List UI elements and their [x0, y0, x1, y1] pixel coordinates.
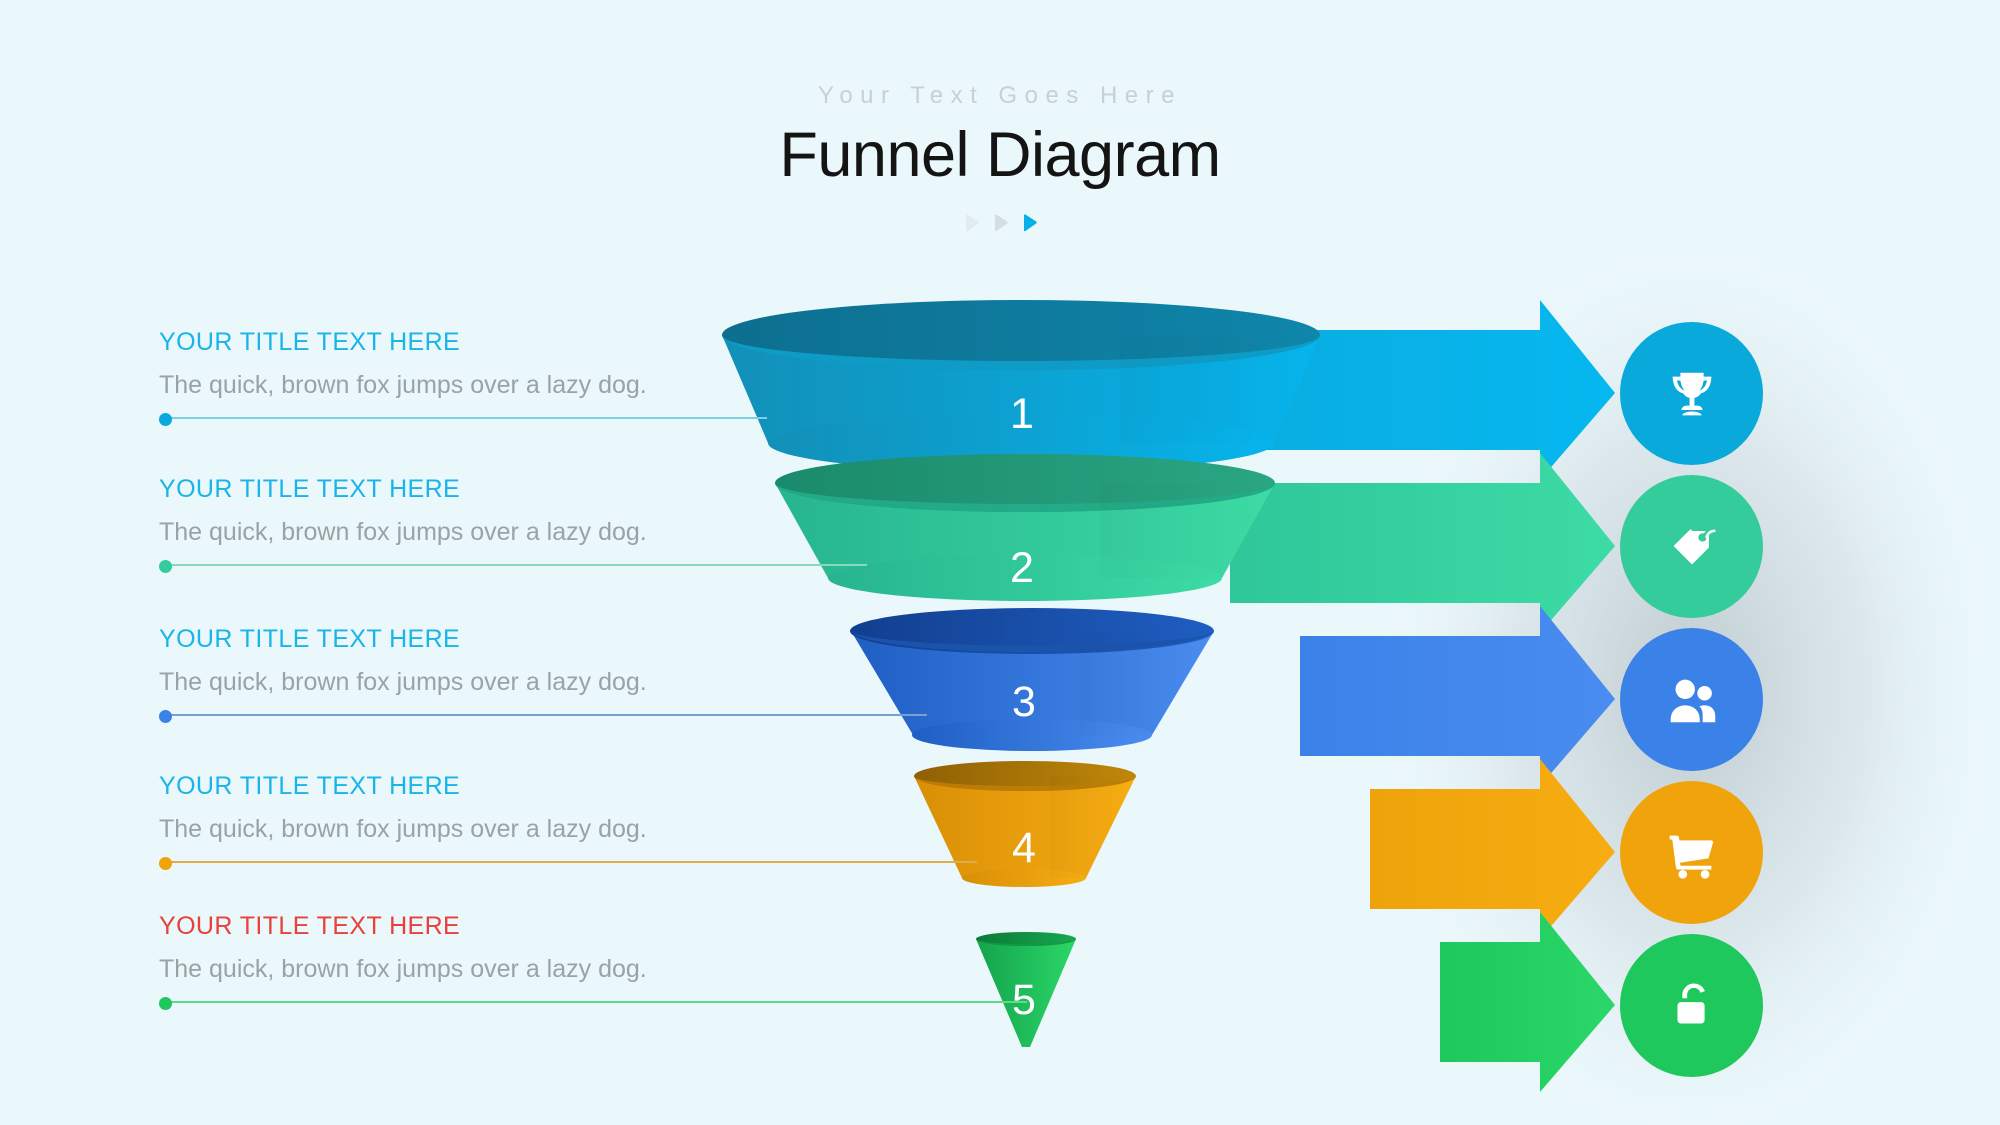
funnel-row-5[interactable]: YOUR TITLE TEXT HERE The quick, brown fo… [159, 912, 1159, 1007]
row-title-4: YOUR TITLE TEXT HERE [159, 772, 1159, 801]
stage-icon-circle-4[interactable] [1620, 781, 1763, 924]
row-dot-2 [159, 560, 172, 573]
price-tag-icon [1661, 516, 1723, 578]
stage-icon-circle-5[interactable] [1620, 934, 1763, 1077]
row-title-1: YOUR TITLE TEXT HERE [159, 328, 1159, 357]
unlock-icon [1661, 975, 1723, 1037]
row-dot-4 [159, 857, 172, 870]
row-title-3: YOUR TITLE TEXT HERE [159, 625, 1159, 654]
stage-icon-circle-2[interactable] [1620, 475, 1763, 618]
row-rule-3 [159, 710, 1159, 720]
row-title-2: YOUR TITLE TEXT HERE [159, 475, 1159, 504]
row-dot-5 [159, 997, 172, 1010]
row-rule-4 [159, 857, 1159, 867]
funnel-row-4[interactable]: YOUR TITLE TEXT HERE The quick, brown fo… [159, 772, 1159, 867]
row-rule-1 [159, 413, 1159, 423]
row-desc-3: The quick, brown fox jumps over a lazy d… [159, 668, 1159, 697]
users-icon [1661, 669, 1723, 731]
row-dot-1 [159, 413, 172, 426]
row-desc-1: The quick, brown fox jumps over a lazy d… [159, 371, 1159, 400]
row-title-5: YOUR TITLE TEXT HERE [159, 912, 1159, 941]
row-dot-3 [159, 710, 172, 723]
slide-canvas: Your Text Goes Here Funnel Diagram [0, 0, 2000, 1125]
shopping-cart-icon [1661, 822, 1723, 884]
stage-icon-circle-1[interactable] [1620, 322, 1763, 465]
row-rule-5 [159, 997, 1159, 1007]
row-desc-2: The quick, brown fox jumps over a lazy d… [159, 518, 1159, 547]
trophy-icon [1661, 363, 1723, 425]
funnel-row-3[interactable]: YOUR TITLE TEXT HERE The quick, brown fo… [159, 625, 1159, 720]
row-desc-5: The quick, brown fox jumps over a lazy d… [159, 955, 1159, 984]
row-rule-2 [159, 560, 1159, 570]
funnel-row-2[interactable]: YOUR TITLE TEXT HERE The quick, brown fo… [159, 475, 1159, 570]
row-desc-4: The quick, brown fox jumps over a lazy d… [159, 815, 1159, 844]
funnel-row-1[interactable]: YOUR TITLE TEXT HERE The quick, brown fo… [159, 328, 1159, 423]
stage-icon-circle-3[interactable] [1620, 628, 1763, 771]
